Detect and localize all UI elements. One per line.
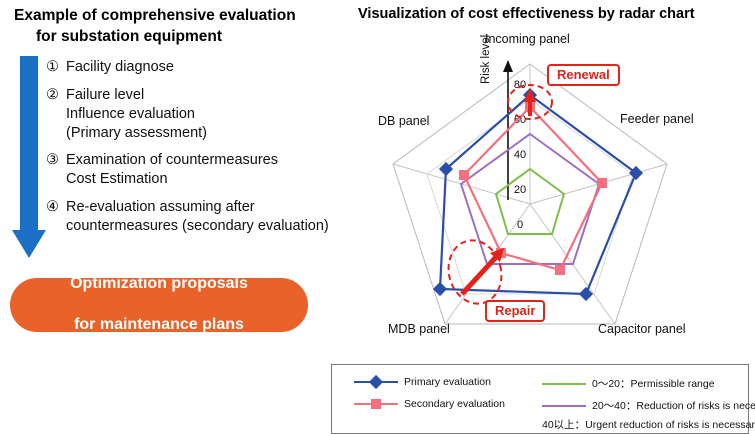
step-text: Examination of countermeasures <box>66 152 278 168</box>
down-arrow <box>12 56 46 271</box>
step-subtext: Influence evaluation (Primary assessment… <box>66 105 336 143</box>
step-subtext: countermeasures (secondary evaluation) <box>66 217 336 236</box>
step-text: Facility diagnose <box>66 59 174 75</box>
left-title: Example of comprehensive evaluation for … <box>14 6 334 48</box>
left-title-line1: Example of comprehensive evaluation <box>14 7 296 24</box>
list-item: ② Failure levelInfluence evaluation (Pri… <box>46 86 336 143</box>
risk-axis-arrowhead <box>503 60 513 72</box>
tick-40: 40 <box>514 149 526 161</box>
legend-label-primary: Primary evaluation <box>404 376 491 388</box>
cta-line2: for maintenance plans <box>70 315 248 336</box>
callout-repair: Repair <box>485 300 545 322</box>
list-item: ④ Re-evaluation assuming aftercountermea… <box>46 198 336 236</box>
step-text: Failure level <box>66 87 144 103</box>
legend-label-red-range: 40以上：Urgent reduction of risks is necess… <box>542 417 755 432</box>
right-panel: Visualization of cost effectiveness by r… <box>340 0 755 419</box>
legend-label-purple-range: 20～40：Reduction of risks is necessary <box>592 398 755 413</box>
legend-item-red-range: 40以上：Urgent reduction of risks is necess… <box>542 417 755 432</box>
legend-item-secondary: Secondary evaluation <box>354 398 505 410</box>
cta-line1: Optimization proposals <box>70 274 248 295</box>
list-item: ③ Examination of countermeasuresCost Est… <box>46 151 336 189</box>
step-number: ④ <box>46 198 66 236</box>
step-number: ① <box>46 58 66 77</box>
axis-label-capacitor-panel: Capacitor panel <box>598 322 686 336</box>
step-number: ③ <box>46 151 66 189</box>
legend-swatch-purple <box>542 401 586 411</box>
arrow-shaft <box>20 56 38 234</box>
legend-item-green-range: 0～20：Permissible range <box>542 376 715 391</box>
chart-title: Visualization of cost effectiveness by r… <box>358 6 695 22</box>
legend-label-secondary: Secondary evaluation <box>404 398 505 410</box>
legend-label-green-range: 0～20：Permissible range <box>592 376 715 391</box>
callout-renewal: Renewal <box>547 64 620 86</box>
legend-item-purple-range: 20～40：Reduction of risks is necessary <box>542 398 755 413</box>
left-title-line2: for substation equipment <box>36 27 334 48</box>
step-text: Re-evaluation assuming after <box>66 199 255 215</box>
axis-label-feeder-panel: Feeder panel <box>620 112 694 126</box>
steps-list: ① Facility diagnose ② Failure levelInflu… <box>46 58 336 245</box>
axis-label-incoming-panel: Incoming panel <box>485 32 570 46</box>
legend-item-primary: Primary evaluation <box>354 376 491 388</box>
legend-swatch-secondary <box>354 399 398 409</box>
step-subtext: Cost Estimation <box>66 170 336 189</box>
chart-legend: Primary evaluation Secondary evaluation … <box>331 364 749 434</box>
radar-chart: 0 20 40 60 80 <box>340 22 755 352</box>
axis-label-mdb-panel: MDB panel <box>388 322 450 336</box>
repair-arrow-shaft <box>462 255 498 294</box>
optimization-proposal-banner: Optimization proposals for maintenance p… <box>10 278 308 332</box>
axis-label-db-panel: DB panel <box>378 114 429 128</box>
legend-swatch-green <box>542 379 586 389</box>
left-panel: Example of comprehensive evaluation for … <box>0 0 340 419</box>
list-item: ① Facility diagnose <box>46 58 336 77</box>
legend-swatch-primary <box>354 377 398 387</box>
tick-0: 0 <box>517 219 523 231</box>
arrow-head <box>12 230 46 258</box>
step-number: ② <box>46 86 66 143</box>
tick-20: 20 <box>514 184 526 196</box>
